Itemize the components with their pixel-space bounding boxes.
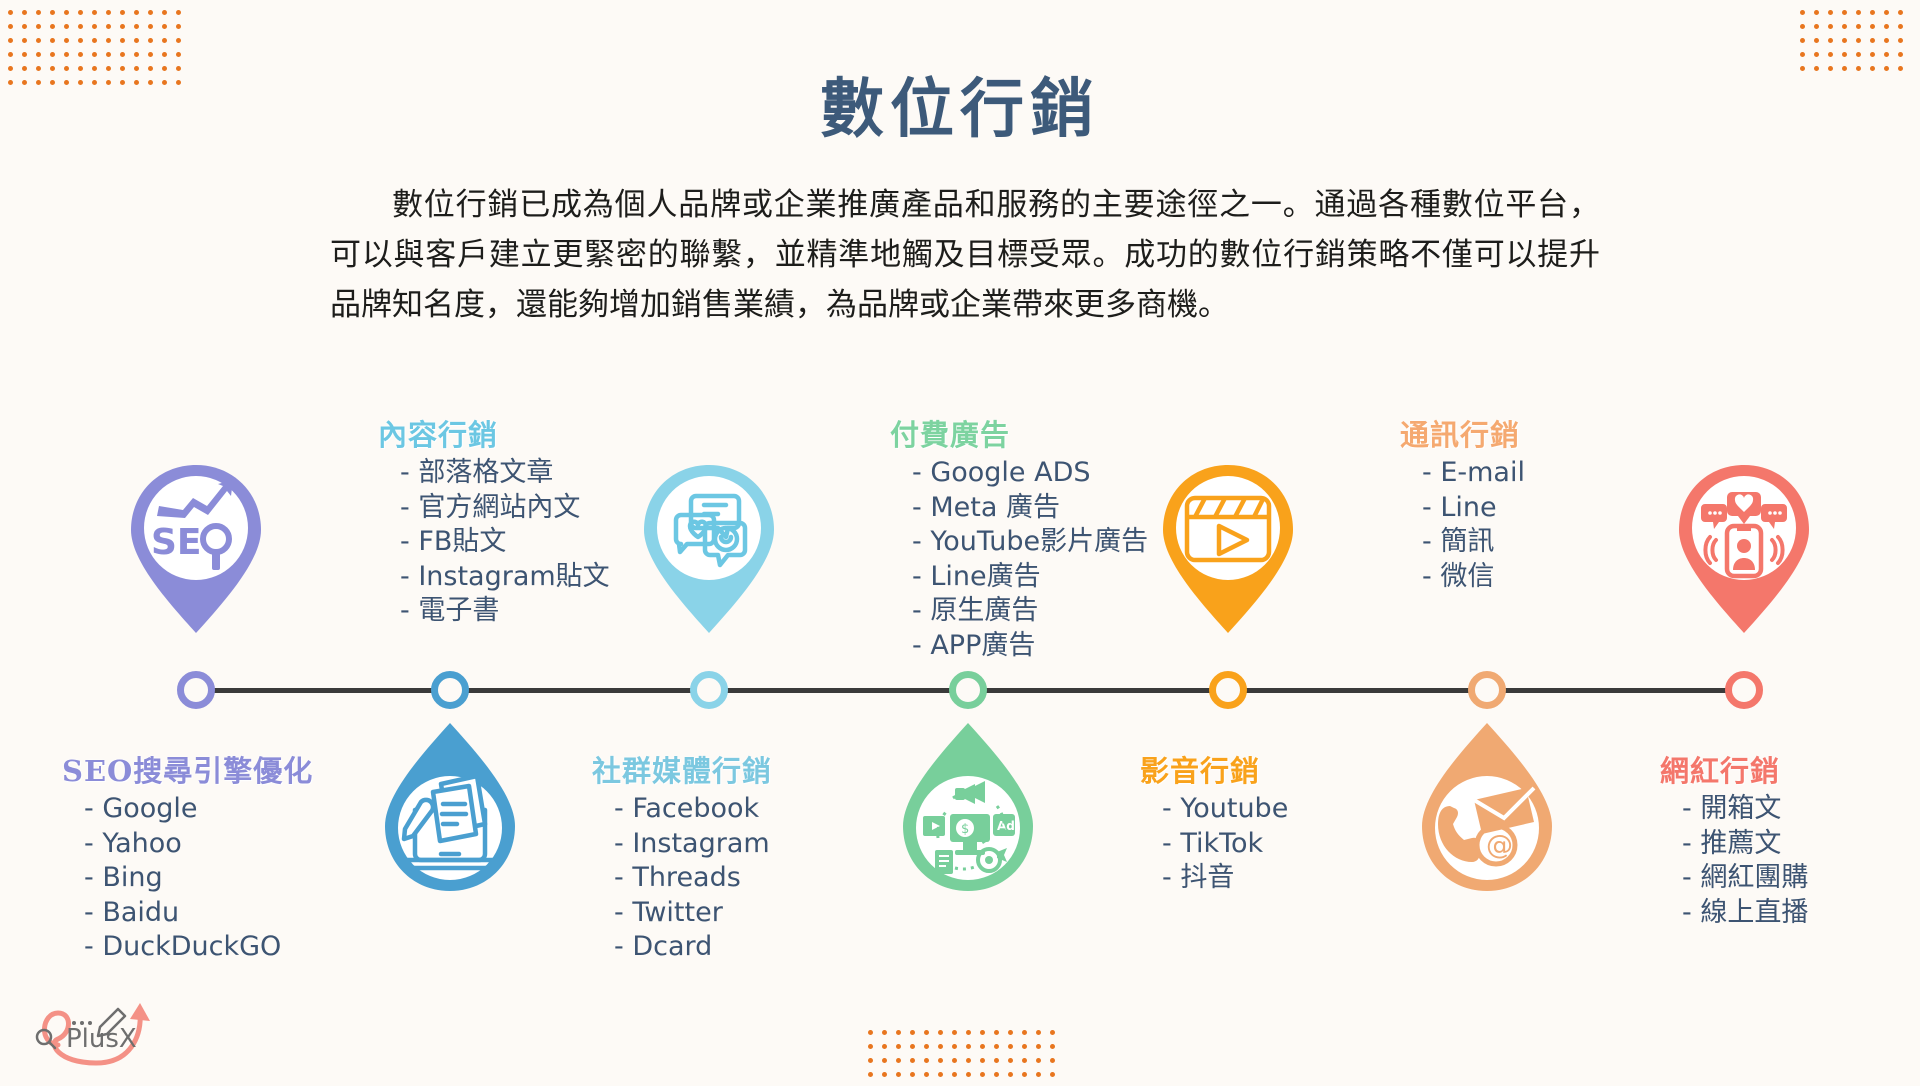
decor-dot xyxy=(1008,1044,1013,1049)
section-paid-list: - Google ADS- Meta 廣告- YouTube影片廣告- Line… xyxy=(890,456,1148,663)
section-influencer: 網紅行銷 - 開箱文- 推薦文- 網紅團購- 線上直播 xyxy=(1660,748,1808,930)
list-item: - 官方網站內文 xyxy=(400,491,610,526)
decor-dot xyxy=(1828,52,1833,57)
decor-dot xyxy=(1884,38,1889,43)
decor-dot xyxy=(1856,38,1861,43)
section-paid: 付費廣告 - Google ADS- Meta 廣告- YouTube影片廣告-… xyxy=(890,412,1148,663)
decor-dot xyxy=(910,1044,915,1049)
decor-dot xyxy=(1050,1030,1055,1035)
svg-text:@: @ xyxy=(1486,830,1513,861)
decor-dot xyxy=(952,1058,957,1063)
section-social-heading: 社群媒體行銷 xyxy=(592,748,772,790)
decor-dot xyxy=(64,10,69,15)
decor-dot xyxy=(896,1072,901,1077)
decor-dot xyxy=(1800,10,1805,15)
list-item: - FB貼文 xyxy=(400,525,610,560)
bottom-center-dot-grid xyxy=(868,1030,1064,1086)
decor-dot xyxy=(1884,10,1889,15)
decor-dot xyxy=(1800,38,1805,43)
decor-dot xyxy=(1814,10,1819,15)
decor-dot xyxy=(896,1058,901,1063)
decor-dot xyxy=(1898,24,1903,29)
list-item: - Google xyxy=(84,792,313,827)
decor-dot xyxy=(1036,1044,1041,1049)
decor-dot xyxy=(1814,24,1819,29)
decor-dot xyxy=(22,10,27,15)
decor-dot xyxy=(966,1044,971,1049)
svg-text:$: $ xyxy=(961,822,969,837)
decor-dot xyxy=(1870,52,1875,57)
decor-dot xyxy=(176,24,181,29)
decor-dot xyxy=(64,52,69,57)
decor-dot xyxy=(106,38,111,43)
decor-dot xyxy=(1022,1058,1027,1063)
timeline-node-paid[interactable] xyxy=(949,671,987,709)
decor-dot xyxy=(22,38,27,43)
section-influencer-list: - 開箱文- 推薦文- 網紅團購- 線上直播 xyxy=(1660,792,1808,930)
decor-dot xyxy=(148,10,153,15)
list-item: - 簡訊 xyxy=(1422,525,1525,560)
decor-dot xyxy=(882,1072,887,1077)
decor-dot xyxy=(924,1072,929,1077)
infographic-canvas: 數位行銷 數位行銷已成為個人品牌或企業推廣產品和服務的主要途徑之一。通過各種數位… xyxy=(0,0,1920,1080)
decor-dot xyxy=(882,1058,887,1063)
decor-dot xyxy=(50,24,55,29)
decor-dot xyxy=(50,10,55,15)
decor-dot xyxy=(50,52,55,57)
page-title: 數位行銷 xyxy=(0,58,1920,150)
decor-dot xyxy=(120,24,125,29)
pin-social[interactable] xyxy=(375,718,525,896)
decor-dot xyxy=(36,52,41,57)
decor-dot xyxy=(106,52,111,57)
decor-dot xyxy=(134,10,139,15)
decor-dot xyxy=(994,1044,999,1049)
list-item: - Instagram xyxy=(614,827,772,862)
decor-dot xyxy=(36,38,41,43)
decor-dot xyxy=(92,10,97,15)
section-content-heading: 內容行銷 xyxy=(378,412,610,454)
decor-dot xyxy=(868,1072,873,1077)
decor-dot xyxy=(938,1072,943,1077)
intro-paragraph: 數位行銷已成為個人品牌或企業推廣產品和服務的主要途徑之一。通過各種數位平台，可以… xyxy=(330,180,1600,330)
section-seo-heading: SEO搜尋引擎優化 xyxy=(62,748,313,790)
decor-dot xyxy=(162,10,167,15)
decor-dot xyxy=(910,1072,915,1077)
decor-dot xyxy=(1828,38,1833,43)
list-item: - 抖音 xyxy=(1162,861,1288,896)
decor-dot xyxy=(92,38,97,43)
decor-dot xyxy=(980,1058,985,1063)
decor-dot xyxy=(896,1030,901,1035)
list-item: - 原生廣告 xyxy=(912,594,1148,629)
list-item: - Baidu xyxy=(84,896,313,931)
list-item: - TikTok xyxy=(1162,827,1288,862)
decor-dot xyxy=(952,1044,957,1049)
decor-dot xyxy=(148,52,153,57)
decor-dot xyxy=(1050,1044,1055,1049)
section-influencer-heading: 網紅行銷 xyxy=(1660,748,1808,790)
decor-dot xyxy=(938,1030,943,1035)
section-seo: SEO搜尋引擎優化 - Google- Yahoo- Bing- Baidu- … xyxy=(62,748,313,965)
decor-dot xyxy=(36,24,41,29)
decor-dot xyxy=(924,1030,929,1035)
decor-dot xyxy=(64,24,69,29)
decor-dot xyxy=(1036,1072,1041,1077)
list-item: - Bing xyxy=(84,861,313,896)
list-item: - Twitter xyxy=(614,896,772,931)
decor-dot xyxy=(134,38,139,43)
decor-dot xyxy=(1842,24,1847,29)
timeline-node-video[interactable] xyxy=(1209,671,1247,709)
list-item: - Yahoo xyxy=(84,827,313,862)
decor-dot xyxy=(1856,10,1861,15)
section-video-list: - Youtube- TikTok- 抖音 xyxy=(1140,792,1288,896)
decor-dot xyxy=(176,38,181,43)
decor-dot xyxy=(1884,52,1889,57)
decor-dot xyxy=(1800,52,1805,57)
svg-text:Ad: Ad xyxy=(997,819,1015,833)
decor-dot xyxy=(896,1044,901,1049)
decor-dot xyxy=(148,38,153,43)
decor-dot xyxy=(882,1030,887,1035)
decor-dot xyxy=(994,1072,999,1077)
decor-dot xyxy=(1022,1072,1027,1077)
decor-dot xyxy=(8,10,13,15)
decor-dot xyxy=(994,1058,999,1063)
decor-dot xyxy=(910,1058,915,1063)
decor-dot xyxy=(64,38,69,43)
decor-dot xyxy=(148,24,153,29)
decor-dot xyxy=(134,52,139,57)
decor-dot xyxy=(50,38,55,43)
decor-dot xyxy=(176,10,181,15)
decor-dot xyxy=(8,24,13,29)
decor-dot xyxy=(1856,52,1861,57)
decor-dot xyxy=(980,1030,985,1035)
decor-dot xyxy=(1842,38,1847,43)
section-video-heading: 影音行銷 xyxy=(1140,748,1288,790)
decor-dot xyxy=(994,1030,999,1035)
decor-dot xyxy=(1842,52,1847,57)
decor-dot xyxy=(8,52,13,57)
decor-dot xyxy=(1036,1030,1041,1035)
decor-dot xyxy=(1842,10,1847,15)
section-messaging-list: - E-mail- Line- 簡訊- 微信 xyxy=(1400,456,1525,594)
decor-dot xyxy=(1884,24,1889,29)
pin-seo[interactable]: SE xyxy=(121,460,271,638)
section-content-list: - 部落格文章- 官方網站內文- FB貼文- Instagram貼文- 電子書 xyxy=(378,456,610,629)
decor-dot xyxy=(938,1044,943,1049)
decor-dot xyxy=(1898,38,1903,43)
decor-dot xyxy=(1828,10,1833,15)
decor-dot xyxy=(868,1030,873,1035)
decor-dot xyxy=(162,38,167,43)
decor-dot xyxy=(1008,1030,1013,1035)
decor-dot xyxy=(1898,10,1903,15)
decor-dot xyxy=(882,1044,887,1049)
section-paid-heading: 付費廣告 xyxy=(890,412,1148,454)
section-content: 內容行銷 - 部落格文章- 官方網站內文- FB貼文- Instagram貼文-… xyxy=(378,412,610,629)
decor-dot xyxy=(176,52,181,57)
decor-dot xyxy=(1870,10,1875,15)
decor-dot xyxy=(1022,1030,1027,1035)
list-item: - 推薦文 xyxy=(1682,827,1808,862)
decor-dot xyxy=(1050,1058,1055,1063)
decor-dot xyxy=(938,1058,943,1063)
decor-dot xyxy=(162,24,167,29)
decor-dot xyxy=(966,1030,971,1035)
list-item: - 網紅團購 xyxy=(1682,861,1808,896)
decor-dot xyxy=(1008,1072,1013,1077)
list-item: - 微信 xyxy=(1422,560,1525,595)
decor-dot xyxy=(1828,24,1833,29)
list-item: - E-mail xyxy=(1422,456,1525,491)
decor-dot xyxy=(106,24,111,29)
decor-dot xyxy=(1050,1072,1055,1077)
list-item: - YouTube影片廣告 xyxy=(912,525,1148,560)
pin-influencer[interactable] xyxy=(1669,460,1819,638)
decor-dot xyxy=(22,52,27,57)
timeline-node-influencer[interactable] xyxy=(1725,671,1763,709)
decor-dot xyxy=(1898,52,1903,57)
list-item: - Line xyxy=(1422,491,1525,526)
list-item: - APP廣告 xyxy=(912,629,1148,664)
decor-dot xyxy=(78,10,83,15)
list-item: - Threads xyxy=(614,861,772,896)
decor-dot xyxy=(1856,24,1861,29)
decor-dot xyxy=(980,1044,985,1049)
list-item: - 部落格文章 xyxy=(400,456,610,491)
decor-dot xyxy=(36,10,41,15)
list-item: - 線上直播 xyxy=(1682,896,1808,931)
pin-content[interactable] xyxy=(634,460,784,638)
decor-dot xyxy=(120,52,125,57)
list-item: - Facebook xyxy=(614,792,772,827)
pin-video[interactable] xyxy=(1153,460,1303,638)
pin-messaging[interactable]: @ xyxy=(1412,718,1562,896)
plusx-logo[interactable]: PlusX xyxy=(20,985,180,1071)
list-item: - DuckDuckGO xyxy=(84,930,313,965)
decor-dot xyxy=(910,1030,915,1035)
decor-dot xyxy=(92,52,97,57)
decor-dot xyxy=(106,10,111,15)
pin-paid[interactable]: $ Ad xyxy=(893,718,1043,896)
decor-dot xyxy=(78,38,83,43)
list-item: - Line廣告 xyxy=(912,560,1148,595)
decor-dot xyxy=(924,1058,929,1063)
decor-dot xyxy=(1814,38,1819,43)
decor-dot xyxy=(162,52,167,57)
decor-dot xyxy=(966,1058,971,1063)
timeline-node-messaging[interactable] xyxy=(1468,671,1506,709)
section-messaging: 通訊行銷 - E-mail- Line- 簡訊- 微信 xyxy=(1400,412,1525,594)
list-item: - Dcard xyxy=(614,930,772,965)
decor-dot xyxy=(22,24,27,29)
decor-dot xyxy=(8,38,13,43)
decor-dot xyxy=(924,1044,929,1049)
list-item: - Instagram貼文 xyxy=(400,560,610,595)
timeline-node-content[interactable] xyxy=(431,671,469,709)
logo-text: PlusX xyxy=(66,1024,137,1054)
section-video: 影音行銷 - Youtube- TikTok- 抖音 xyxy=(1140,748,1288,896)
list-item: - Meta 廣告 xyxy=(912,491,1148,526)
decor-dot xyxy=(1036,1058,1041,1063)
decor-dot xyxy=(120,38,125,43)
section-seo-list: - Google- Yahoo- Bing- Baidu- DuckDuckGO xyxy=(62,792,313,965)
section-social-list: - Facebook- Instagram- Threads- Twitter-… xyxy=(592,792,772,965)
decor-dot xyxy=(952,1030,957,1035)
decor-dot xyxy=(1008,1058,1013,1063)
decor-dot xyxy=(1022,1044,1027,1049)
list-item: - 開箱文 xyxy=(1682,792,1808,827)
decor-dot xyxy=(120,10,125,15)
timeline-node-social[interactable] xyxy=(690,671,728,709)
decor-dot xyxy=(868,1058,873,1063)
decor-dot xyxy=(78,24,83,29)
timeline-node-seo[interactable] xyxy=(177,671,215,709)
section-social: 社群媒體行銷 - Facebook- Instagram- Threads- T… xyxy=(592,748,772,965)
list-item: - Google ADS xyxy=(912,456,1148,491)
decor-dot xyxy=(1814,52,1819,57)
decor-dot xyxy=(78,52,83,57)
svg-text:SE: SE xyxy=(151,522,202,563)
decor-dot xyxy=(1870,24,1875,29)
decor-dot xyxy=(1800,24,1805,29)
decor-dot xyxy=(966,1072,971,1077)
decor-dot xyxy=(134,24,139,29)
list-item: - Youtube xyxy=(1162,792,1288,827)
decor-dot xyxy=(1870,38,1875,43)
list-item: - 電子書 xyxy=(400,594,610,629)
decor-dot xyxy=(980,1072,985,1077)
decor-dot xyxy=(868,1044,873,1049)
decor-dot xyxy=(92,24,97,29)
decor-dot xyxy=(952,1072,957,1077)
section-messaging-heading: 通訊行銷 xyxy=(1400,412,1525,454)
